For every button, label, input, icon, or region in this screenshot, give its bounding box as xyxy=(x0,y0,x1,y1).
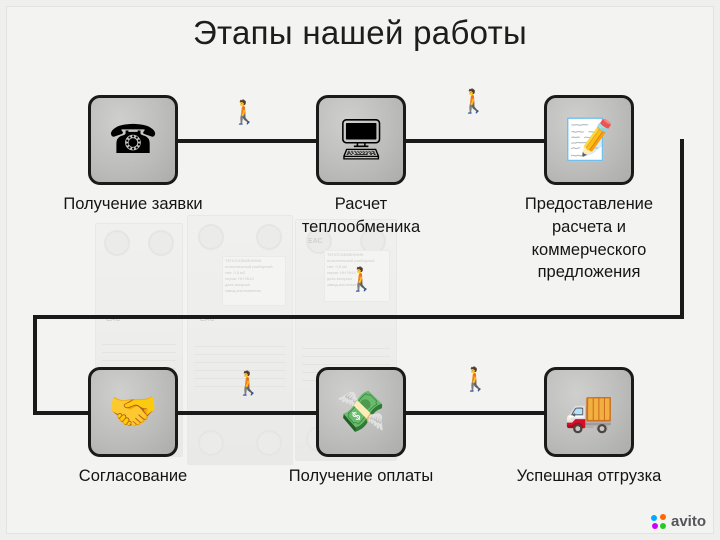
walking-person-icon-4: 🚶 xyxy=(234,372,263,395)
plate-hole xyxy=(104,230,130,256)
plate-hole xyxy=(148,230,174,256)
connector-row-transition xyxy=(33,315,684,319)
node-1-receive-request[interactable]: ☎ xyxy=(88,95,178,185)
walking-person-icon-2: 🚶 xyxy=(459,90,488,113)
node-1-caption: Получение заявки xyxy=(18,193,248,216)
connector-5-6 xyxy=(406,411,544,415)
money-with-wings-icon: 💸 xyxy=(336,392,386,432)
node-3-proposal[interactable]: 📝 xyxy=(544,95,634,185)
product-label: ТЕПЛООБМЕННИК пластинчатый разборный тип… xyxy=(222,256,286,306)
walking-person-icon-5: 🚶 xyxy=(461,368,490,391)
plate-hole xyxy=(198,430,224,456)
computer-monitor-icon: 🖥 xyxy=(336,120,387,160)
node-6-shipment[interactable]: 🚚 xyxy=(544,367,634,457)
slide-canvas: ЕАС ЕАС ТЕПЛООБМЕННИК пластинчатый разбо… xyxy=(0,0,720,540)
avito-dots-logo xyxy=(651,514,666,529)
page-title: Этапы нашей работы xyxy=(0,14,720,52)
walking-person-icon-1: 🚶 xyxy=(230,101,259,124)
delivery-truck-icon: 🚚 xyxy=(564,392,614,432)
node-6-caption: Успешная отгрузка xyxy=(474,465,704,488)
connector-1-2 xyxy=(178,139,318,143)
node-3-caption: Предоставление расчета и коммерческого п… xyxy=(492,193,686,284)
certificate-mark: ЕАС xyxy=(308,238,323,245)
plate-middle: ЕАС ТЕПЛООБМЕННИК пластинчатый разборный… xyxy=(187,215,293,465)
handshake-icon: 🤝 xyxy=(108,392,158,432)
node-2-caption: Расчет теплообменика xyxy=(246,193,476,239)
node-5-payment[interactable]: 💸 xyxy=(316,367,406,457)
connector-to-4 xyxy=(33,411,91,415)
node-4-agreement[interactable]: 🤝 xyxy=(88,367,178,457)
node-2-calculation[interactable]: 🖥 xyxy=(316,95,406,185)
note-with-pencil-icon: 📝 xyxy=(564,120,614,160)
plate-hole xyxy=(198,224,224,250)
node-4-caption: Согласование xyxy=(18,465,248,488)
connector-4-5 xyxy=(178,411,318,415)
connector-2-3 xyxy=(406,139,544,143)
node-5-caption: Получение оплаты xyxy=(246,465,476,488)
walking-person-icon-3: 🚶 xyxy=(347,268,376,291)
telephone-icon: ☎ xyxy=(108,120,158,160)
connector-up-to-4 xyxy=(33,315,37,413)
avito-watermark: avito xyxy=(651,513,706,530)
avito-brand-label: avito xyxy=(671,513,706,530)
plate-hole xyxy=(256,430,282,456)
